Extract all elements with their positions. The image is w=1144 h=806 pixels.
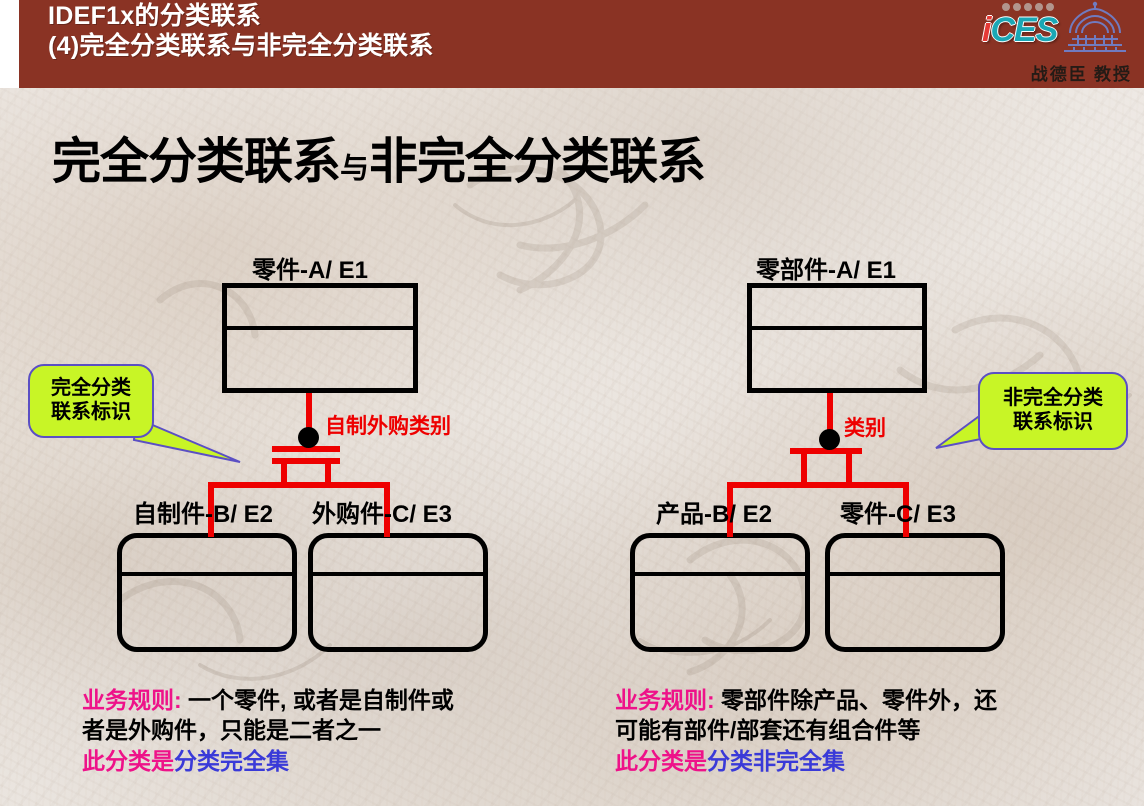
branch-horizontal-bus — [208, 482, 390, 488]
slide-canvas: IDEF1x的分类联系 (4)完全分类联系与非完全分类联系 iCES 战德臣 教… — [0, 0, 1144, 806]
rule-body-line1: 零部件除产品、零件外，还 — [715, 687, 997, 713]
callout-incomplete: 非完全分类 联系标识 — [934, 372, 1144, 472]
callout-complete: 完全分类 联系标识 — [28, 360, 258, 470]
category-bar-secondary — [272, 458, 340, 464]
child-entity-box-1 — [117, 533, 297, 652]
callout-bubble-incomplete: 非完全分类 联系标识 — [978, 372, 1128, 450]
branch-left-vertical-upper — [801, 454, 807, 482]
callout-bubble-complete: 完全分类 联系标识 — [28, 364, 154, 438]
category-name-label: 自制外购类别 — [325, 410, 451, 440]
callout-line2: 联系标识 — [51, 401, 131, 425]
parent-entity-box — [747, 283, 927, 393]
rule-lead-label: 业务规则: — [615, 687, 715, 713]
child-entity-divider-2 — [830, 572, 1000, 576]
rule-conclusion-term: 分类完全集 — [174, 748, 289, 774]
category-discriminator-circle — [298, 427, 319, 448]
rule-lead-label: 业务规则: — [82, 687, 182, 713]
diagram-incomplete-categorization: 零部件-A/ E1 类别 产品-B/ E2 零件-C/ E3 — [572, 0, 1144, 806]
child-entity-label-1: 自制件-B/ E2 — [133, 494, 273, 529]
branch-horizontal-bus — [727, 482, 909, 488]
category-name-label: 类别 — [844, 412, 886, 442]
callout-line2: 联系标识 — [1013, 411, 1093, 435]
child-entity-box-2 — [825, 533, 1005, 652]
business-rule-complete: 业务规则: 一个零件, 或者是自制件或 者是外购件，只能是二者之一 此分类是分类… — [82, 685, 552, 776]
rule-conclusion-term: 分类非完全集 — [707, 748, 845, 774]
callout-line1: 非完全分类 — [1003, 387, 1103, 411]
rule-line-3: 此分类是分类非完全集 — [615, 746, 1085, 776]
parent-entity-label: 零部件-A/ E1 — [756, 250, 896, 285]
rule-line-1: 业务规则: 零部件除产品、零件外，还 — [615, 685, 1085, 715]
child-entity-box-1 — [630, 533, 810, 652]
child-entity-label-2: 零件-C/ E3 — [840, 494, 956, 529]
child-entity-divider-1 — [635, 572, 805, 576]
diagram-complete-categorization: 零件-A/ E1 自制外购类别 自制件-B/ E2 外购件-C/ E3 — [0, 0, 572, 806]
rule-conclusion-lead: 此分类是 — [615, 748, 707, 774]
child-entity-box-2 — [308, 533, 488, 652]
rule-line-2: 者是外购件，只能是二者之一 — [82, 715, 552, 745]
child-entity-divider-2 — [313, 572, 483, 576]
rule-line-2: 可能有部件/部套还有组合件等 — [615, 715, 1085, 745]
rule-line-1: 业务规则: 一个零件, 或者是自制件或 — [82, 685, 552, 715]
parent-entity-divider — [752, 326, 922, 330]
callout-line1: 完全分类 — [51, 377, 131, 401]
business-rule-incomplete: 业务规则: 零部件除产品、零件外，还 可能有部件/部套还有组合件等 此分类是分类… — [615, 685, 1085, 776]
child-entity-label-2: 外购件-C/ E3 — [312, 494, 452, 529]
child-entity-divider-1 — [122, 572, 292, 576]
category-discriminator-circle — [819, 429, 840, 450]
branch-right-vertical-upper — [846, 454, 852, 482]
parent-entity-divider — [227, 326, 413, 330]
rule-line-3: 此分类是分类完全集 — [82, 746, 552, 776]
child-entity-label-1: 产品-B/ E2 — [656, 494, 772, 529]
parent-entity-label: 零件-A/ E1 — [252, 250, 368, 285]
rule-conclusion-lead: 此分类是 — [82, 748, 174, 774]
rule-body-line1: 一个零件, 或者是自制件或 — [182, 687, 454, 713]
